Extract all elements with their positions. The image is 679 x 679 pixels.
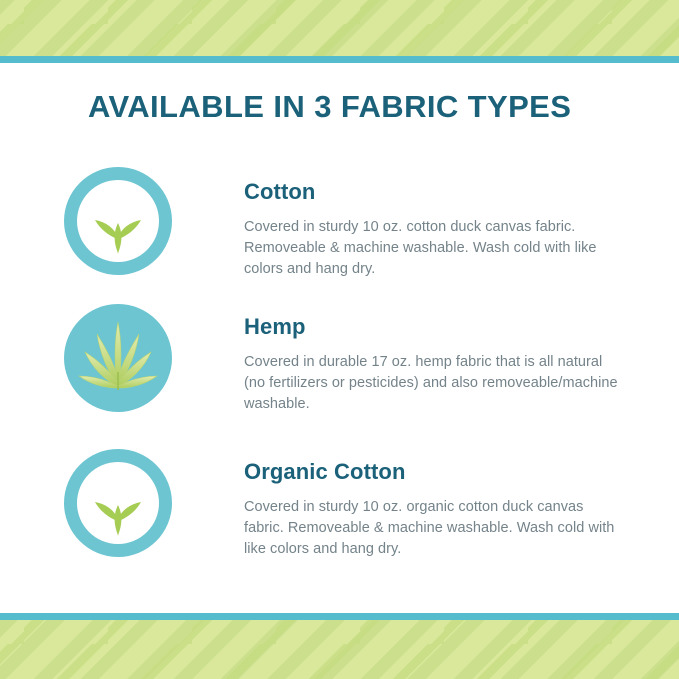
fabric-heading: Cotton <box>244 179 624 205</box>
top-pattern-band <box>0 0 679 56</box>
fabric-heading: Hemp <box>244 314 624 340</box>
top-teal-rule <box>0 56 679 63</box>
hemp-leaf-icon <box>62 302 174 414</box>
fabric-description: Covered in durable 17 oz. hemp fabric th… <box>244 352 624 415</box>
page-title: AVAILABLE IN 3 FABRIC TYPES <box>88 89 571 125</box>
content-area: AVAILABLE IN 3 FABRIC TYPES <box>0 63 679 613</box>
fabric-heading: Organic Cotton <box>244 459 624 485</box>
diagonal-dash-pattern <box>0 620 679 679</box>
diagonal-dash-pattern <box>0 0 679 56</box>
fabric-text-block: Organic Cotton Covered in sturdy 10 oz. … <box>244 459 624 560</box>
cotton-boll-icon <box>62 165 174 277</box>
fabric-description: Covered in sturdy 10 oz. organic cotton … <box>244 497 624 560</box>
fabric-text-block: Cotton Covered in sturdy 10 oz. cotton d… <box>244 179 624 280</box>
fabric-description: Covered in sturdy 10 oz. cotton duck can… <box>244 217 624 280</box>
bottom-teal-rule <box>0 613 679 620</box>
bottom-pattern-band <box>0 620 679 679</box>
cotton-boll-icon <box>62 447 174 559</box>
fabric-text-block: Hemp Covered in durable 17 oz. hemp fabr… <box>244 314 624 415</box>
